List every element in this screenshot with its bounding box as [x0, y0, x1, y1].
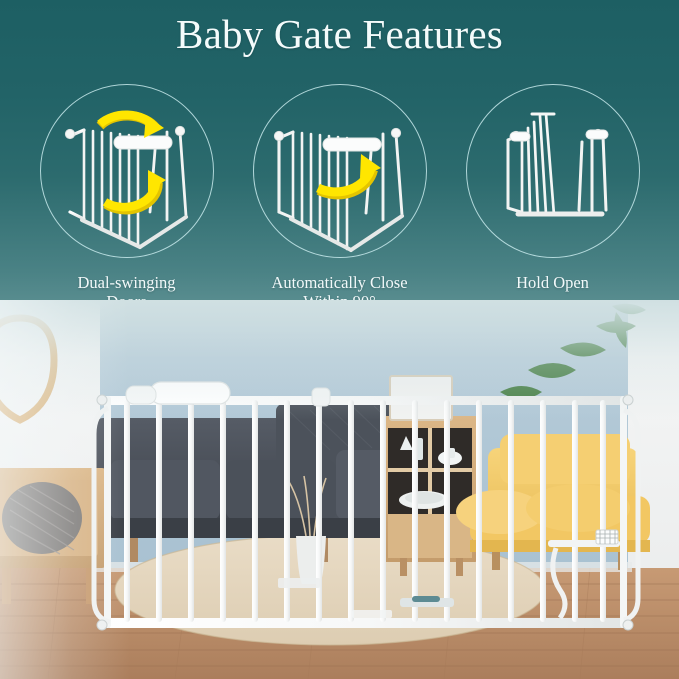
feature-illustration-3 [466, 84, 640, 258]
arrow-swing-close-icon [105, 170, 166, 210]
feature-caption-3-line1: Hold Open [516, 274, 589, 293]
page-title: Baby Gate Features [0, 8, 679, 60]
living-room-scene-photo [0, 300, 679, 679]
feature-item-hold-open: Hold Open [455, 84, 651, 293]
room-illustration [0, 300, 679, 679]
feature-caption-2-line1: Automatically Close [271, 274, 407, 293]
feature-caption-3: Hold Open [516, 274, 589, 293]
gate-auto-close-icon [253, 84, 427, 258]
feature-list: Dual-swinging Doors [0, 84, 679, 314]
feature-item-automatically-close: Automatically Close Within 90° [242, 84, 438, 311]
feature-caption-1-line1: Dual-swinging [77, 274, 175, 293]
arrow-swing-open-icon [100, 115, 164, 138]
feature-illustration-1 [40, 84, 214, 258]
feature-illustration-2 [253, 84, 427, 258]
gate-dual-swing-icon [40, 84, 214, 258]
feature-item-dual-swinging-doors: Dual-swinging Doors [29, 84, 225, 311]
gate-hold-open-icon [466, 84, 640, 258]
product-feature-poster: Baby Gate Features [0, 0, 679, 679]
